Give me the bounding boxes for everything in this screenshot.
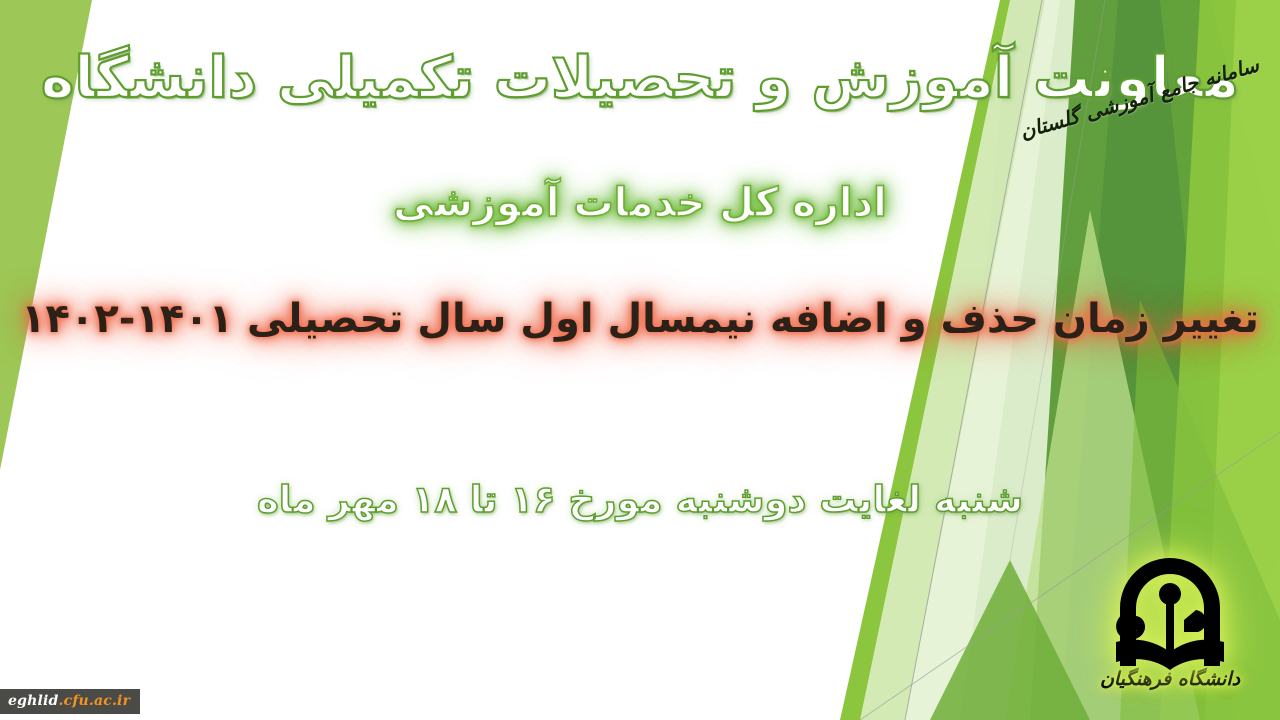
website-url-badge[interactable]: eghlid.cfu.ac.ir (0, 689, 140, 714)
announcement-date-line: شنبه لغایت دوشنبه مورخ ۱۶ تا ۱۸ مهر ماه (0, 478, 1280, 521)
url-domain-suffix: .cfu.ac.ir (59, 693, 131, 709)
announcement-banner: معاونت آموزش و تحصیلات تکمیلی دانشگاه اد… (0, 0, 1280, 720)
university-logo: دانشگاه فرهنگیان (1090, 550, 1250, 690)
announcement-headline: تغییر زمان حذف و اضافه نیمسال اول سال تح… (0, 296, 1280, 342)
department-subtitle: اداره کل خدمات آموزشی (0, 180, 1280, 226)
farhangian-university-emblem-icon (1104, 550, 1236, 672)
url-site-name: eghlid (8, 693, 59, 709)
